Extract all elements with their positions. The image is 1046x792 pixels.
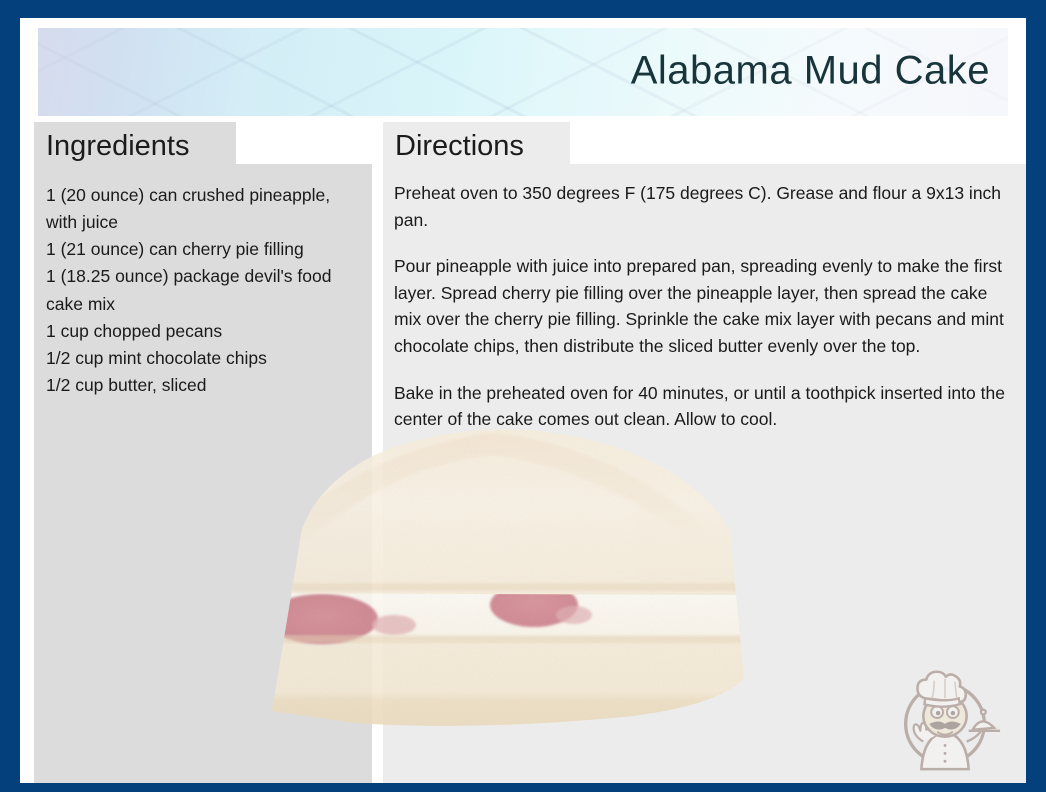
list-item: 1 (21 ounce) can cherry pie filling [46, 236, 358, 263]
directions-column: Preheat oven to 350 degrees F (175 degre… [383, 122, 1026, 783]
header-banner: Alabama Mud Cake [38, 28, 1008, 116]
page-border: Alabama Mud Cake 1 (20 ounce) can crushe… [0, 0, 1046, 792]
list-item: 1/2 cup butter, sliced [46, 372, 358, 399]
direction-step: Bake in the preheated oven for 40 minute… [394, 380, 1010, 433]
list-item: 1 cup chopped pecans [46, 318, 358, 345]
ingredients-list: 1 (20 ounce) can crushed pineapple, with… [46, 182, 358, 399]
direction-step: Pour pineapple with juice into prepared … [394, 253, 1010, 359]
list-item: 1 (20 ounce) can crushed pineapple, with… [46, 182, 358, 236]
direction-step: Preheat oven to 350 degrees F (175 degre… [394, 180, 1010, 233]
list-item: 1/2 cup mint chocolate chips [46, 345, 358, 372]
ingredients-heading: Ingredients [34, 122, 236, 168]
directions-panel: Preheat oven to 350 degrees F (175 degre… [383, 164, 1026, 783]
ingredients-column: 1 (20 ounce) can crushed pineapple, with… [34, 122, 372, 783]
directions-heading: Directions [383, 122, 570, 168]
ingredients-panel: 1 (20 ounce) can crushed pineapple, with… [34, 164, 372, 783]
directions-body: Preheat oven to 350 degrees F (175 degre… [394, 180, 1010, 433]
list-item: 1 (18.25 ounce) package devil's food cak… [46, 263, 358, 317]
page-title: Alabama Mud Cake [631, 49, 990, 94]
content-columns: 1 (20 ounce) can crushed pineapple, with… [20, 122, 1026, 783]
recipe-card: Alabama Mud Cake 1 (20 ounce) can crushe… [20, 18, 1026, 783]
